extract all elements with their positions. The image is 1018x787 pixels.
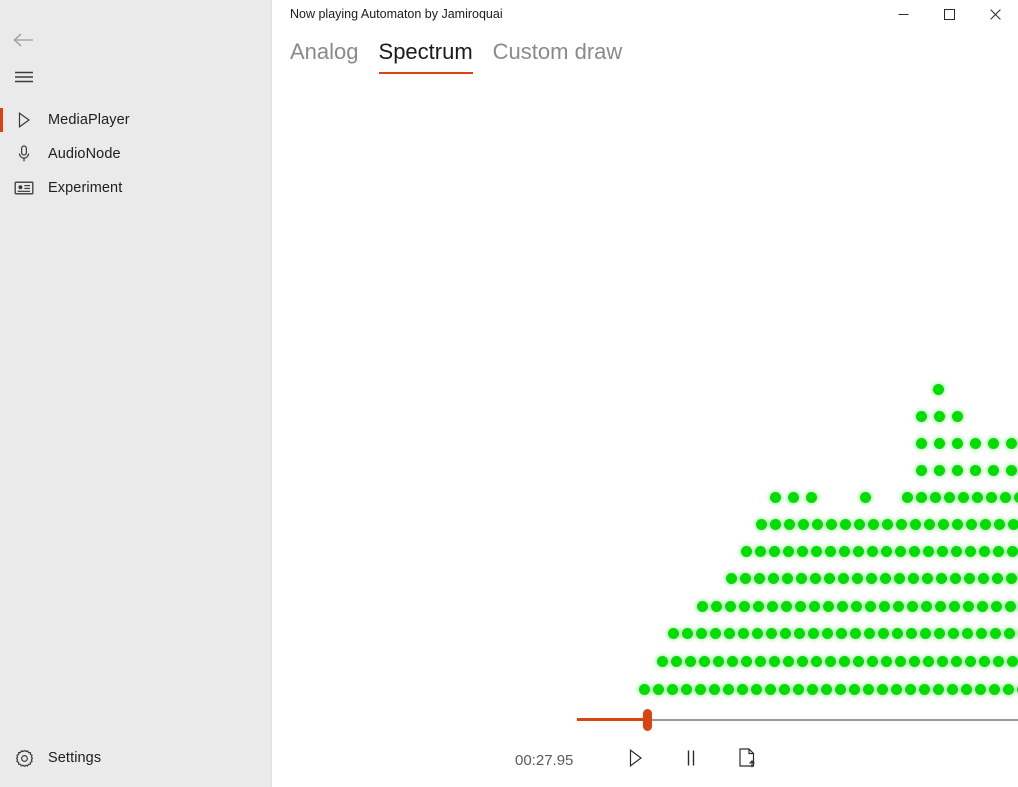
seek-slider[interactable]	[577, 717, 1018, 723]
gear-icon	[8, 742, 40, 774]
spectrum-dot	[741, 656, 752, 667]
view-tabs: Analog Spectrum Custom draw	[272, 38, 1018, 78]
spectrum-dot	[867, 656, 878, 667]
spectrum-dot	[806, 492, 817, 503]
spectrum-dot	[906, 628, 917, 639]
spectrum-dot	[952, 411, 963, 422]
spectrum-dot	[991, 601, 1002, 612]
spectrum-dot	[952, 519, 963, 530]
spectrum-dot	[767, 601, 778, 612]
save-file-button[interactable]	[719, 742, 775, 778]
selection-indicator	[0, 108, 3, 132]
tab-underline	[379, 72, 473, 75]
spectrum-dot	[993, 656, 1004, 667]
spectrum-dot	[770, 492, 781, 503]
maximize-icon	[944, 7, 955, 25]
spectrum-dot	[952, 438, 963, 449]
spectrum-dot	[682, 628, 693, 639]
spectrum-dot	[990, 628, 1001, 639]
spectrum-dot	[860, 492, 871, 503]
spectrum-dot	[723, 684, 734, 695]
spectrum-dot	[972, 492, 983, 503]
spectrum-dot	[812, 519, 823, 530]
spectrum-dot	[667, 684, 678, 695]
spectrum-dot	[895, 546, 906, 557]
spectrum-dot	[916, 411, 927, 422]
spectrum-dot	[923, 656, 934, 667]
spectrum-dot	[835, 684, 846, 695]
spectrum-dot	[788, 492, 799, 503]
spectrum-dot	[826, 519, 837, 530]
spectrum-dot	[979, 546, 990, 557]
spectrum-dot	[865, 601, 876, 612]
spectrum-dot	[741, 546, 752, 557]
spectrum-dot	[916, 438, 927, 449]
spectrum-dot	[853, 546, 864, 557]
spectrum-dot	[765, 684, 776, 695]
spectrum-dot	[766, 628, 777, 639]
spectrum-dot	[1014, 492, 1018, 503]
spectrum-dot	[1006, 573, 1017, 584]
sidebar-settings-label: Settings	[48, 750, 101, 766]
spectrum-dot	[809, 601, 820, 612]
spectrum-dot	[696, 628, 707, 639]
spectrum-dot	[936, 573, 947, 584]
tab-spectrum[interactable]: Spectrum	[369, 38, 483, 74]
spectrum-dot	[685, 656, 696, 667]
pause-button[interactable]	[663, 742, 719, 778]
spectrum-dot	[965, 656, 976, 667]
spectrum-dot	[769, 546, 780, 557]
spectrum-dot	[737, 684, 748, 695]
spectrum-dot	[754, 573, 765, 584]
spectrum-dot	[779, 684, 790, 695]
spectrum-dot	[920, 628, 931, 639]
spectrum-dot	[769, 656, 780, 667]
spectrum-dot	[840, 519, 851, 530]
spectrum-dot	[958, 492, 969, 503]
close-button[interactable]	[972, 0, 1018, 31]
spectrum-dot	[938, 519, 949, 530]
spectrum-dot	[934, 411, 945, 422]
spectrum-dot	[949, 601, 960, 612]
spectrum-dot	[699, 656, 710, 667]
spectrum-dot	[930, 492, 941, 503]
spectrum-dot	[751, 684, 762, 695]
spectrum-dot	[853, 656, 864, 667]
spectrum-dot	[711, 601, 722, 612]
spectrum-dot	[810, 573, 821, 584]
spectrum-dot	[755, 546, 766, 557]
spectrum-dot	[922, 573, 933, 584]
hamburger-menu-button[interactable]	[4, 62, 44, 96]
spectrum-dot	[977, 601, 988, 612]
spectrum-dot	[950, 573, 961, 584]
spectrum-dot	[994, 519, 1005, 530]
spectrum-visualizer	[272, 90, 1018, 700]
spectrum-dot	[755, 656, 766, 667]
spectrum-dot	[768, 573, 779, 584]
spectrum-dot	[1004, 628, 1015, 639]
spectrum-dot	[937, 546, 948, 557]
spectrum-dot	[725, 601, 736, 612]
app-window: MediaPlayer AudioNode	[0, 0, 1018, 787]
spectrum-dot	[797, 656, 808, 667]
spectrum-dot	[726, 573, 737, 584]
minimize-icon	[898, 7, 909, 25]
spectrum-dot	[794, 628, 805, 639]
spectrum-dot	[916, 492, 927, 503]
spectrum-dot	[935, 601, 946, 612]
spectrum-dot	[752, 628, 763, 639]
sidebar-item-experiment[interactable]: Experiment	[0, 171, 272, 205]
spectrum-dot	[821, 684, 832, 695]
spectrum-dot	[993, 546, 1004, 557]
spectrum-dot	[839, 546, 850, 557]
spectrum-dot	[880, 573, 891, 584]
spectrum-dot	[838, 573, 849, 584]
spectrum-dot	[910, 519, 921, 530]
spectrum-dot	[782, 573, 793, 584]
spectrum-dot	[964, 573, 975, 584]
maximize-button[interactable]	[926, 0, 972, 31]
spectrum-dot	[825, 656, 836, 667]
spectrum-dot	[933, 384, 944, 395]
spectrum-dot	[924, 519, 935, 530]
spectrum-dot	[893, 601, 904, 612]
spectrum-dot	[934, 465, 945, 476]
spectrum-dot	[892, 628, 903, 639]
play-icon	[627, 748, 644, 773]
spectrum-dot	[863, 684, 874, 695]
spectrum-dot	[756, 519, 767, 530]
spectrum-dot	[783, 546, 794, 557]
play-button[interactable]	[607, 742, 663, 778]
spectrum-dot	[978, 573, 989, 584]
spectrum-dot	[866, 573, 877, 584]
spectrum-dot	[784, 519, 795, 530]
spectrum-dot	[881, 656, 892, 667]
back-button[interactable]	[4, 22, 44, 58]
spectrum-dot	[951, 656, 962, 667]
spectrum-dot	[975, 684, 986, 695]
spectrum-dot	[823, 601, 834, 612]
spectrum-dot	[839, 656, 850, 667]
spectrum-dot	[1000, 492, 1011, 503]
spectrum-dot	[895, 656, 906, 667]
title-bar: Now playing Automaton by Jamiroquai	[272, 0, 1018, 31]
spectrum-dot	[770, 519, 781, 530]
hamburger-menu-icon	[14, 70, 34, 89]
seek-thumb[interactable]	[643, 709, 652, 731]
spectrum-dot	[933, 684, 944, 695]
spectrum-dot	[909, 656, 920, 667]
spectrum-dot	[668, 628, 679, 639]
window-controls	[880, 0, 1018, 31]
seek-progress	[577, 718, 645, 721]
spectrum-dot	[952, 465, 963, 476]
spectrum-dot	[1007, 546, 1018, 557]
spectrum-dot	[881, 546, 892, 557]
play-triangle-icon	[8, 104, 40, 136]
spectrum-dot	[908, 573, 919, 584]
spectrum-dot	[951, 546, 962, 557]
spectrum-dot	[671, 656, 682, 667]
spectrum-dot	[811, 656, 822, 667]
experiment-card-icon	[8, 172, 40, 204]
spectrum-dot	[909, 546, 920, 557]
spectrum-dot	[976, 628, 987, 639]
spectrum-dot	[923, 546, 934, 557]
tab-analog[interactable]: Analog	[280, 38, 369, 74]
spectrum-dot	[653, 684, 664, 695]
spectrum-dot	[891, 684, 902, 695]
sidebar-item-settings[interactable]: Settings	[0, 741, 272, 775]
spectrum-dot	[919, 684, 930, 695]
spectrum-dot	[639, 684, 650, 695]
sidebar-item-audionode[interactable]: AudioNode	[0, 137, 272, 171]
spectrum-dot	[970, 465, 981, 476]
tab-label: Analog	[290, 39, 359, 64]
spectrum-dot	[811, 546, 822, 557]
spectrum-dot	[979, 656, 990, 667]
spectrum-dot	[851, 601, 862, 612]
spectrum-dot	[695, 684, 706, 695]
spectrum-dot	[753, 601, 764, 612]
tab-label: Custom draw	[493, 39, 623, 64]
microphone-icon	[8, 138, 40, 170]
spectrum-dot	[947, 684, 958, 695]
spectrum-dot	[916, 465, 927, 476]
spectrum-dot	[1006, 465, 1017, 476]
spectrum-dot	[948, 628, 959, 639]
spectrum-dot	[877, 684, 888, 695]
spectrum-dot	[807, 684, 818, 695]
spectrum-dot	[989, 684, 1000, 695]
spectrum-dot	[697, 601, 708, 612]
spectrum-dot	[849, 684, 860, 695]
transport-controls: 00:27.95	[272, 740, 1018, 780]
spectrum-dot	[808, 628, 819, 639]
spectrum-dot	[868, 519, 879, 530]
spectrum-dot	[988, 465, 999, 476]
spectrum-dot	[961, 684, 972, 695]
sidebar-nav-list: MediaPlayer AudioNode	[0, 103, 272, 205]
tab-custom-draw[interactable]: Custom draw	[483, 38, 633, 74]
spectrum-dot	[970, 438, 981, 449]
navigation-sidebar: MediaPlayer AudioNode	[0, 0, 272, 787]
spectrum-dot	[980, 519, 991, 530]
spectrum-dot	[681, 684, 692, 695]
spectrum-dot	[795, 601, 806, 612]
spectrum-dot	[879, 601, 890, 612]
spectrum-dot	[934, 628, 945, 639]
spectrum-dot	[934, 438, 945, 449]
spectrum-dot	[824, 573, 835, 584]
sidebar-item-label: MediaPlayer	[48, 112, 130, 128]
spectrum-dot	[850, 628, 861, 639]
spectrum-dot	[657, 656, 668, 667]
main-content: Now playing Automaton by Jamiroquai	[272, 0, 1018, 787]
spectrum-dot	[962, 628, 973, 639]
spectrum-dot	[1008, 519, 1018, 530]
spectrum-dot	[902, 492, 913, 503]
spectrum-dot	[781, 601, 792, 612]
spectrum-dot	[921, 601, 932, 612]
spectrum-dot	[1007, 656, 1018, 667]
spectrum-dot	[854, 519, 865, 530]
spectrum-dot	[896, 519, 907, 530]
sidebar-item-label: AudioNode	[48, 146, 121, 162]
spectrum-dot	[837, 601, 848, 612]
pause-icon	[684, 748, 698, 773]
spectrum-dot	[905, 684, 916, 695]
spectrum-dot	[798, 519, 809, 530]
spectrum-dot	[1006, 438, 1017, 449]
spectrum-dot	[986, 492, 997, 503]
window-title: Now playing Automaton by Jamiroquai	[290, 3, 503, 25]
spectrum-dot	[738, 628, 749, 639]
spectrum-dot	[988, 438, 999, 449]
spectrum-dot	[739, 601, 750, 612]
spectrum-dot	[852, 573, 863, 584]
spectrum-dot	[780, 628, 791, 639]
spectrum-dot	[937, 656, 948, 667]
spectrum-dot	[713, 656, 724, 667]
minimize-button[interactable]	[880, 0, 926, 31]
spectrum-dot	[894, 573, 905, 584]
spectrum-dot	[963, 601, 974, 612]
spectrum-dot	[783, 656, 794, 667]
spectrum-dot	[727, 656, 738, 667]
spectrum-dot	[1005, 601, 1016, 612]
spectrum-dot	[966, 519, 977, 530]
close-icon	[990, 7, 1001, 25]
spectrum-dot	[907, 601, 918, 612]
save-file-icon	[737, 747, 757, 774]
spectrum-dot	[944, 492, 955, 503]
spectrum-dot	[797, 546, 808, 557]
spectrum-dot	[793, 684, 804, 695]
spectrum-dot	[825, 546, 836, 557]
tab-label: Spectrum	[379, 39, 473, 64]
spectrum-dot	[965, 546, 976, 557]
spectrum-dot	[822, 628, 833, 639]
spectrum-dot	[724, 628, 735, 639]
time-display: 00:27.95	[515, 752, 607, 769]
spectrum-dot	[740, 573, 751, 584]
spectrum-dot	[867, 546, 878, 557]
spectrum-dot	[836, 628, 847, 639]
spectrum-dot	[796, 573, 807, 584]
spectrum-dot	[709, 684, 720, 695]
sidebar-item-label: Experiment	[48, 180, 122, 196]
spectrum-dot	[710, 628, 721, 639]
spectrum-dot	[1003, 684, 1014, 695]
spectrum-dot	[882, 519, 893, 530]
spectrum-dot	[878, 628, 889, 639]
back-arrow-icon	[12, 31, 36, 49]
spectrum-dot	[864, 628, 875, 639]
sidebar-item-mediaplayer[interactable]: MediaPlayer	[0, 103, 272, 137]
spectrum-dot	[992, 573, 1003, 584]
